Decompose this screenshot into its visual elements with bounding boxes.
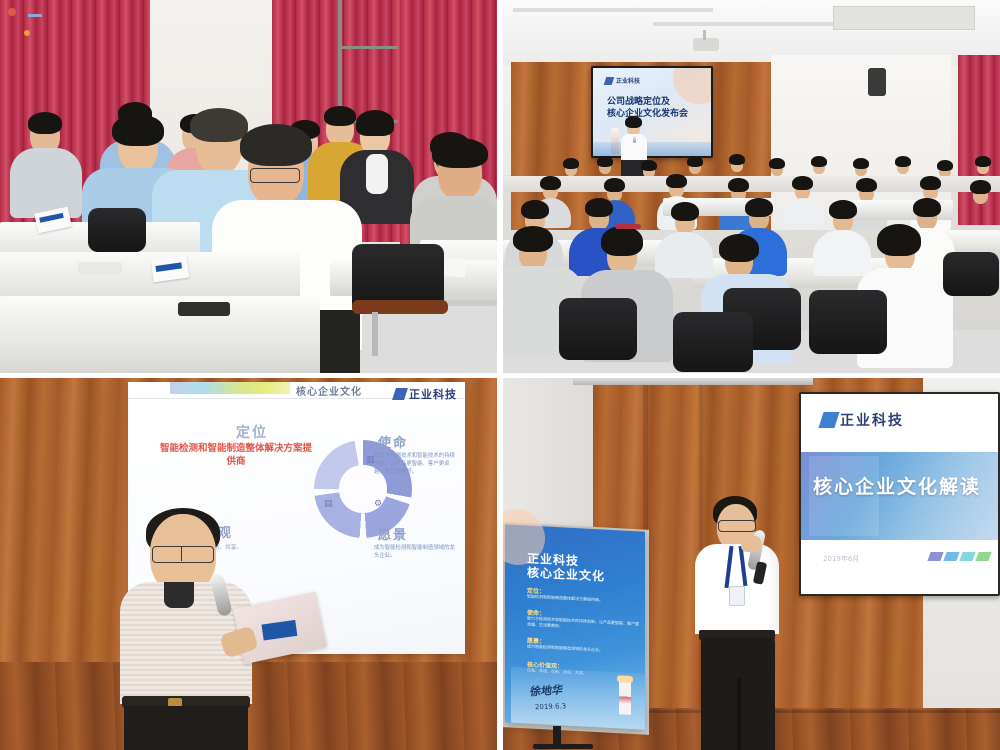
hand: [741, 536, 761, 552]
standee-item-text-0: 智能检测和智能制造整体解决方案提供商。: [527, 593, 637, 605]
photo-top-left[interactable]: [0, 0, 497, 373]
slide-culture-interpretation: 正业科技 核心企业文化解读 2019年6月: [801, 394, 998, 594]
phone: [178, 302, 230, 316]
speaker-box-icon: [868, 68, 886, 96]
badge: [729, 586, 745, 606]
section-text-mission: 致力于检测技术和智能技术的持续创新，让产品更智能、客户更卓越、生活更美好。: [374, 452, 458, 476]
section-key-positioning: 定位: [236, 422, 268, 442]
standee-title-2: 核心企业文化: [527, 563, 605, 584]
lighthouse-icon: [619, 678, 631, 715]
collar: [164, 582, 194, 608]
hairband: [615, 224, 641, 229]
gear-icon: ⚙: [374, 498, 382, 509]
color-palette-bars: [929, 552, 990, 561]
brand-logo-icon: [818, 412, 839, 428]
standee-signature-date: 2019.6.3: [535, 702, 567, 711]
brand-logo-icon: [392, 388, 408, 400]
section-text-positioning: 智能检测和智能制造整体解决方案提供商: [156, 442, 316, 468]
photo-top-right[interactable]: 正业科技 公司战略定位及 核心企业文化发布会: [503, 0, 1000, 373]
section-text-vision: 成为智能检测和智能制造领域的龙头企业。: [374, 544, 460, 560]
glasses-icon: [718, 520, 756, 532]
slide-date: 2019年6月: [823, 554, 859, 564]
slide-headline-1: 公司战略定位及: [607, 96, 670, 108]
photo-collage: 正业科技 公司战略定位及 核心企业文化发布会: [0, 0, 1000, 750]
slide-title: 核心企业文化解读: [813, 472, 981, 499]
slide-header: 核心企业文化: [296, 383, 362, 398]
document-icon: ▤: [324, 498, 333, 509]
section-key-mission: 使命: [378, 432, 408, 451]
photo-bottom-left[interactable]: 核心企业文化 正业科技 ▥ ⚙ ▤ 定位 智能检测和智能制造整体解决方案提供商 …: [0, 378, 497, 750]
slide-announcement: 正业科技 公司战略定位及 核心企业文化发布会: [593, 68, 711, 156]
slide-headline-2: 核心企业文化发布会: [607, 108, 688, 120]
brand-name: 正业科技: [840, 410, 904, 430]
standee-signature: 徐地华: [528, 682, 562, 700]
section-key-vision: 愿景: [378, 524, 408, 543]
phone: [78, 262, 122, 274]
standee-item-text-1: 致力于检测技术和智能技术的持续创新，让产品更智能、客户更卓越、生活更美好。: [527, 615, 639, 633]
standee-item-text-2: 成为智能检测和智能制造领域的龙头企业。: [527, 643, 637, 655]
glasses-icon: [250, 168, 300, 183]
culture-standee: 正业科技 核心企业文化 定位： 智能检测和智能制造整体解决方案提供商。 使命： …: [505, 524, 645, 729]
brand-name: 正业科技: [616, 76, 640, 85]
projector-icon: [693, 38, 719, 51]
photo-bottom-right[interactable]: 正业科技 核心企业文化解读 2019年6月 正业科技 核心企业文化 定位： 智能…: [503, 378, 1000, 750]
brand-name: 正业科技: [409, 386, 457, 402]
brand-logo-icon: [604, 77, 615, 85]
